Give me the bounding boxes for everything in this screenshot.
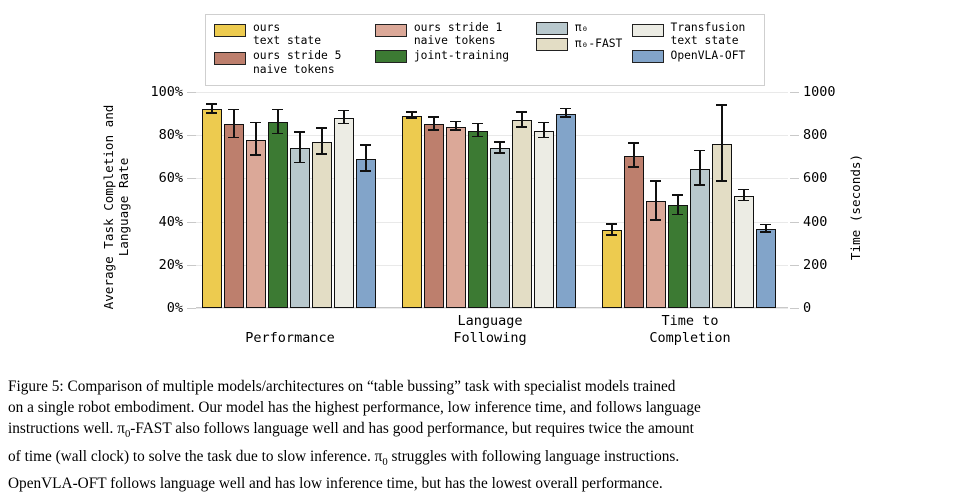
legend-entry-pi0: π₀ [536, 21, 632, 35]
bar-slot [246, 92, 266, 308]
error-cap-lower [360, 170, 371, 172]
error-cap-lower [606, 234, 617, 236]
tick-mark [790, 135, 799, 136]
x-axis-label: Performance [210, 330, 370, 347]
error-cap-upper [272, 109, 283, 111]
error-cap-upper [738, 189, 749, 191]
tick-mark [790, 265, 799, 266]
caption-text-3b: -FAST also follows language well and has… [130, 420, 694, 437]
error-bar [655, 182, 657, 221]
bar[interactable] [512, 120, 532, 308]
legend-swatch-icon [214, 24, 246, 37]
error-cap-upper [716, 104, 727, 106]
bar[interactable] [312, 142, 332, 308]
bar[interactable] [468, 131, 488, 308]
y-tick-label-left: 40% [159, 215, 183, 229]
bar-group [602, 92, 778, 308]
figure-caption: Figure 5: Comparison of multiple models/… [8, 376, 958, 494]
error-cap-upper [450, 121, 461, 123]
error-cap-upper [650, 180, 661, 182]
error-cap-lower [316, 153, 327, 155]
error-cap-lower [450, 129, 461, 131]
error-bar [321, 129, 323, 155]
caption-figure-number: Figure 5: [8, 378, 64, 395]
caption-line-2: on a single robot embodiment. Our model … [8, 397, 958, 418]
caption-text-4b: struggles with following language instru… [388, 448, 679, 465]
caption-line-5: OpenVLA-OFT follows language well and ha… [8, 473, 958, 494]
legend-entry-ours-stride1: ours stride 1 naive tokens [375, 21, 536, 47]
bar-slot [268, 92, 288, 308]
legend-entry-joint-training: joint-training [375, 49, 536, 63]
bar[interactable] [446, 127, 466, 308]
chart-legend: ours text state ours stride 5 naive toke… [205, 14, 765, 86]
error-bar [299, 133, 301, 163]
error-bar [233, 110, 235, 138]
legend-entry-ours-text-state: ours text state [214, 21, 375, 47]
bar[interactable] [334, 118, 354, 308]
y-tick-label-right: 800 [803, 128, 827, 142]
caption-line-1: Figure 5: Comparison of multiple models/… [8, 376, 958, 397]
error-cap-lower [716, 180, 727, 182]
legend-label: ours stride 5 naive tokens [253, 49, 341, 75]
error-cap-lower [338, 123, 349, 125]
legend-column-1: ours text state ours stride 5 naive toke… [214, 21, 375, 78]
error-bar [255, 123, 257, 155]
error-cap-upper [250, 122, 261, 124]
legend-swatch-icon [536, 22, 568, 35]
legend-label: π₀ [575, 21, 589, 34]
error-cap-upper [472, 123, 483, 125]
bar-slot [402, 92, 422, 308]
error-cap-lower [272, 133, 283, 135]
gridline [196, 308, 788, 309]
legend-swatch-icon [632, 50, 664, 63]
plot-wrapper: Average Task Completion and Language Rat… [0, 92, 964, 322]
bar[interactable] [756, 229, 776, 308]
bar[interactable] [224, 124, 244, 308]
y-axis-ticks-right: 10008006004002000 [790, 92, 850, 322]
tick-mark [790, 178, 799, 179]
bar-slot [534, 92, 554, 308]
legend-label: joint-training [414, 49, 509, 62]
error-cap-lower [650, 219, 661, 221]
error-bar [277, 110, 279, 134]
tick-mark [187, 135, 196, 136]
bar-slot [668, 92, 688, 308]
error-cap-lower [694, 184, 705, 186]
legend-swatch-icon [632, 24, 664, 37]
bar-slot [224, 92, 244, 308]
error-cap-upper [560, 108, 571, 110]
error-cap-lower [206, 112, 217, 114]
bar-slot [756, 92, 776, 308]
figure-container: ours text state ours stride 5 naive toke… [0, 0, 964, 499]
legend-label: π₀-FAST [575, 37, 623, 50]
legend-label: Transfusion text state [671, 21, 746, 47]
error-cap-lower [628, 166, 639, 168]
bar[interactable] [424, 124, 444, 308]
tick-mark [790, 308, 799, 309]
bar[interactable] [356, 159, 376, 308]
bar-slot [624, 92, 644, 308]
tick-mark [790, 222, 799, 223]
x-axis-labels: PerformanceLanguage FollowingTime to Com… [196, 310, 788, 354]
legend-column-2: ours stride 1 naive tokens joint-trainin… [375, 21, 536, 65]
caption-text-3a: instructions well. [8, 420, 117, 437]
y-tick-label-left: 0% [167, 301, 183, 315]
tick-mark [187, 92, 196, 93]
tick-mark [187, 265, 196, 266]
error-cap-upper [628, 142, 639, 144]
error-cap-upper [606, 223, 617, 225]
bar-slot [512, 92, 532, 308]
error-bar [633, 144, 635, 168]
error-cap-upper [294, 131, 305, 133]
error-bar [677, 196, 679, 215]
bar[interactable] [402, 116, 422, 308]
bar-slot [202, 92, 222, 308]
y-tick-label-right: 1000 [803, 85, 836, 99]
y-tick-label-left: 100% [150, 85, 183, 99]
bar-slot [446, 92, 466, 308]
y-tick-label-left: 80% [159, 128, 183, 142]
bar-group [402, 92, 578, 308]
y-tick-label-left: 20% [159, 258, 183, 272]
legend-label: OpenVLA-OFT [671, 49, 746, 62]
tick-mark [790, 92, 799, 93]
bar[interactable] [534, 131, 554, 308]
error-cap-lower [228, 137, 239, 139]
error-bar [699, 151, 701, 186]
bar-slot [290, 92, 310, 308]
tick-mark [187, 222, 196, 223]
bar[interactable] [734, 196, 754, 308]
bar[interactable] [490, 148, 510, 308]
y-axis-label-left: Average Task Completion and Language Rat… [104, 92, 128, 322]
error-cap-upper [360, 144, 371, 146]
legend-label: ours text state [253, 21, 321, 47]
legend-swatch-icon [536, 38, 568, 51]
bar-slot [312, 92, 332, 308]
error-cap-lower [428, 129, 439, 131]
caption-text-1: Comparison of multiple models/architectu… [64, 378, 676, 395]
legend-entry-ours-stride5: ours stride 5 naive tokens [214, 49, 375, 75]
error-cap-upper [538, 122, 549, 124]
error-cap-lower [406, 117, 417, 119]
bar[interactable] [602, 230, 622, 308]
tick-mark [187, 178, 196, 179]
bar[interactable] [268, 122, 288, 308]
bar-slot [646, 92, 666, 308]
caption-text-4a: of time (wall clock) to solve the task d… [8, 448, 375, 465]
bar[interactable] [556, 114, 576, 308]
bar[interactable] [246, 140, 266, 308]
error-cap-lower [294, 162, 305, 164]
error-cap-upper [428, 116, 439, 118]
error-cap-upper [494, 141, 505, 143]
legend-entry-openvla-oft: OpenVLA-OFT [632, 49, 756, 63]
bar[interactable] [624, 156, 644, 308]
caption-text-2: on a single robot embodiment. Our model … [8, 399, 701, 416]
legend-swatch-icon [375, 24, 407, 37]
bar[interactable] [668, 205, 688, 308]
bar-slot [690, 92, 710, 308]
legend-swatch-icon [214, 52, 246, 65]
error-cap-lower [494, 152, 505, 154]
tick-mark [187, 308, 196, 309]
x-axis-label: Language Following [410, 313, 570, 347]
error-cap-upper [406, 111, 417, 113]
caption-text-5: OpenVLA-OFT follows language well and ha… [8, 475, 663, 492]
error-cap-upper [228, 109, 239, 111]
error-cap-lower [760, 231, 771, 233]
bar-slot [556, 92, 576, 308]
y-axis-ticks-left: 100%80%60%40%20%0% [140, 92, 196, 322]
x-axis-label: Time to Completion [610, 313, 770, 347]
pi-symbol: π [117, 420, 125, 437]
error-cap-lower [672, 214, 683, 216]
legend-column-4: Transfusion text state OpenVLA-OFT [632, 21, 756, 65]
y-tick-label-right: 400 [803, 215, 827, 229]
error-cap-upper [694, 150, 705, 152]
bar-slot [468, 92, 488, 308]
error-cap-upper [316, 127, 327, 129]
bar[interactable] [690, 169, 710, 308]
bar-slot [424, 92, 444, 308]
error-cap-upper [516, 111, 527, 113]
error-cap-upper [338, 110, 349, 112]
error-cap-upper [672, 194, 683, 196]
bar[interactable] [290, 148, 310, 308]
y-tick-label-right: 200 [803, 258, 827, 272]
legend-label: ours stride 1 naive tokens [414, 21, 502, 47]
legend-swatch-icon [375, 50, 407, 63]
bar-slot [490, 92, 510, 308]
caption-line-3: instructions well. π0-FAST also follows … [8, 418, 958, 445]
bar-slot [602, 92, 622, 308]
error-cap-lower [516, 126, 527, 128]
legend-column-3: π₀ π₀-FAST [536, 21, 632, 53]
bar[interactable] [202, 109, 222, 308]
caption-line-4: of time (wall clock) to solve the task d… [8, 446, 958, 473]
bar-slot [712, 92, 732, 308]
error-bar [721, 106, 723, 182]
bar-slot [734, 92, 754, 308]
plot-area [196, 92, 788, 308]
error-cap-upper [760, 224, 771, 226]
error-cap-lower [738, 200, 749, 202]
bar-slot [334, 92, 354, 308]
error-cap-lower [472, 136, 483, 138]
error-cap-lower [538, 137, 549, 139]
y-tick-label-right: 600 [803, 171, 827, 185]
error-bar [365, 146, 367, 172]
error-cap-lower [560, 116, 571, 118]
error-cap-upper [206, 103, 217, 105]
bar-group [202, 92, 378, 308]
y-tick-label-left: 60% [159, 171, 183, 185]
legend-entry-transfusion: Transfusion text state [632, 21, 756, 47]
error-cap-lower [250, 154, 261, 156]
y-tick-label-right: 0 [803, 301, 811, 315]
legend-entry-pi0-fast: π₀-FAST [536, 37, 632, 51]
bar-slot [356, 92, 376, 308]
